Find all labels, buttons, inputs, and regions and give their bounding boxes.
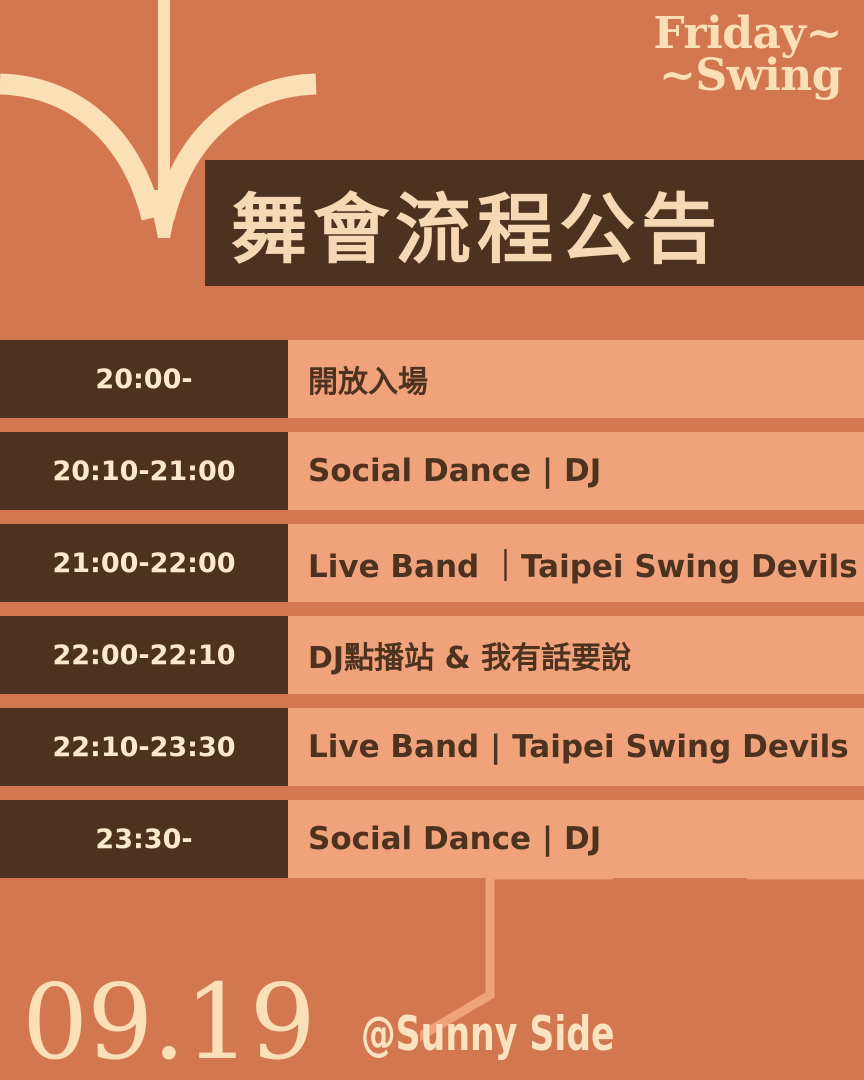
brand-logo: Friday~ ~Swing <box>653 14 842 97</box>
schedule-time-label: 20:00- <box>95 364 192 395</box>
schedule-row: 23:30- Social Dance | DJ <box>0 800 864 878</box>
schedule-desc-cell: Social Dance | DJ <box>288 800 864 878</box>
schedule-time-cell: 23:30- <box>0 800 288 878</box>
schedule-desc-label: Social Dance | DJ <box>308 453 601 489</box>
schedule-desc-cell: Live Band | Taipei Swing Devils <box>288 708 864 786</box>
schedule-row: 21:00-22:00 Live Band ｜Taipei Swing Devi… <box>0 524 864 602</box>
schedule-desc-label: 開放入場 <box>308 357 428 401</box>
title-banner: 舞會流程公告 <box>205 160 864 286</box>
schedule-time-cell: 22:10-23:30 <box>0 708 288 786</box>
schedule-row: 20:10-21:00 Social Dance | DJ <box>0 432 864 510</box>
page-title: 舞會流程公告 <box>231 168 723 278</box>
schedule-time-label: 23:30- <box>95 824 192 855</box>
schedule-desc-label: Live Band ｜Taipei Swing Devils <box>308 541 858 586</box>
brand-line-1: Friday~ <box>653 14 842 54</box>
schedule-row: 22:10-23:30 Live Band | Taipei Swing Dev… <box>0 708 864 786</box>
schedule-desc-label: Social Dance | DJ <box>308 821 601 857</box>
schedule-desc-cell: Social Dance | DJ <box>288 432 864 510</box>
brand-line-2: ~Swing <box>653 56 842 96</box>
schedule-desc-cell: Live Band ｜Taipei Swing Devils <box>288 524 864 602</box>
schedule-desc-label: Live Band | Taipei Swing Devils <box>308 729 849 765</box>
schedule-time-cell: 20:00- <box>0 340 288 418</box>
schedule-time-label: 22:00-22:10 <box>52 640 235 671</box>
poster: Friday~ ~Swing 舞會流程公告 20:00- 開放入場 20:10-… <box>0 0 864 1080</box>
schedule-time-cell: 22:00-22:10 <box>0 616 288 694</box>
schedule-time-label: 20:10-21:00 <box>52 456 235 487</box>
schedule-desc-cell: DJ點播站 & 我有話要說 <box>288 616 864 694</box>
schedule-time-label: 22:10-23:30 <box>52 732 235 763</box>
schedule-row: 22:00-22:10 DJ點播站 & 我有話要說 <box>0 616 864 694</box>
schedule-time-cell: 20:10-21:00 <box>0 432 288 510</box>
schedule-time-cell: 21:00-22:00 <box>0 524 288 602</box>
schedule-time-label: 21:00-22:00 <box>52 548 235 579</box>
schedule-row: 20:00- 開放入場 <box>0 340 864 418</box>
event-venue: @Sunny Side <box>361 1011 615 1058</box>
footer: 09.19 @Sunny Side <box>0 940 864 1080</box>
event-date: 09.19 <box>22 970 315 1074</box>
schedule-desc-cell: 開放入場 <box>288 340 864 418</box>
schedule-desc-label: DJ點播站 & 我有話要說 <box>308 633 631 677</box>
schedule-list: 20:00- 開放入場 20:10-21:00 Social Dance | D… <box>0 340 864 892</box>
